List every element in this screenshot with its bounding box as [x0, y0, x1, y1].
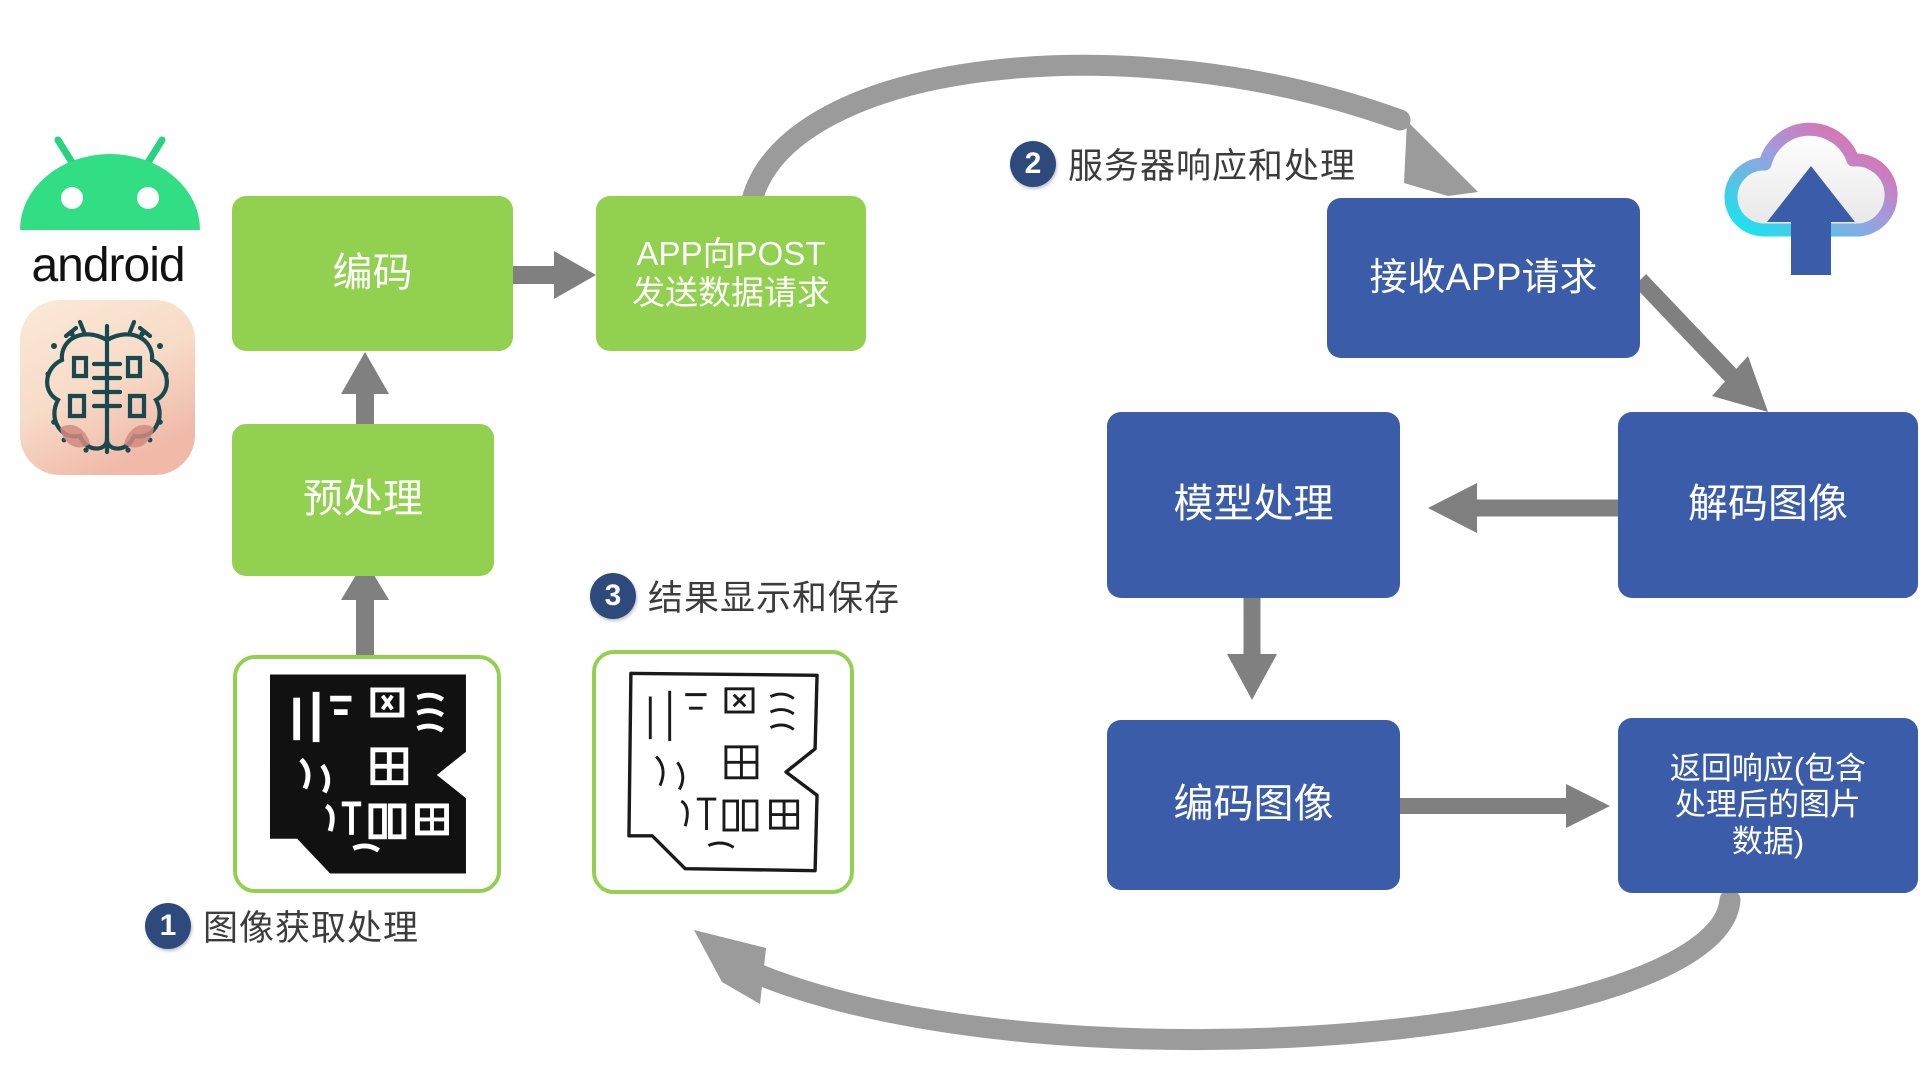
step-3-label: 结果显示和保存: [648, 570, 900, 621]
step-1: 1 图像获取处理: [145, 900, 419, 951]
svg-text:android: android: [31, 239, 184, 292]
cloud-upload-icon: [1715, 100, 1910, 275]
step-3-number: 3: [590, 573, 636, 619]
oracle-bone-traced-result-photo[interactable]: [592, 650, 854, 894]
box-app-post-request[interactable]: APP向POST 发送数据请求: [596, 196, 866, 351]
step-2-number: 2: [1010, 141, 1056, 187]
box-encode[interactable]: 编码: [232, 196, 513, 351]
step-1-number: 1: [145, 903, 191, 949]
step-3: 3 结果显示和保存: [590, 570, 900, 621]
oracle-bone-brain-app-icon: [20, 300, 195, 475]
diagram-canvas: android: [0, 0, 1920, 1080]
step-1-label: 图像获取处理: [203, 900, 419, 951]
box-return-response[interactable]: 返回响应(包含 处理后的图片 数据): [1618, 718, 1918, 893]
box-model-process[interactable]: 模型处理: [1107, 412, 1400, 598]
box-preprocess[interactable]: 预处理: [232, 424, 494, 576]
arrow-decode-to-model: [1428, 483, 1618, 533]
android-wordmark: android: [8, 235, 208, 295]
step-2-label: 服务器响应和处理: [1068, 138, 1356, 189]
box-decode-image[interactable]: 解码图像: [1618, 412, 1918, 598]
step-2: 2 服务器响应和处理: [1010, 138, 1356, 189]
oracle-bone-rubbing-photo[interactable]: [233, 655, 501, 893]
box-encode-image[interactable]: 编码图像: [1107, 720, 1400, 890]
arrow-receive-to-decode: [1640, 280, 1768, 412]
box-receive-app-request[interactable]: 接收APP请求: [1327, 198, 1640, 358]
arrow-encode-to-post: [513, 251, 596, 299]
arrow-server-to-result-arc: [694, 900, 1730, 1040]
arrow-encodeimg-to-response: [1400, 784, 1610, 828]
arrow-model-to-encodeimg: [1227, 580, 1277, 700]
